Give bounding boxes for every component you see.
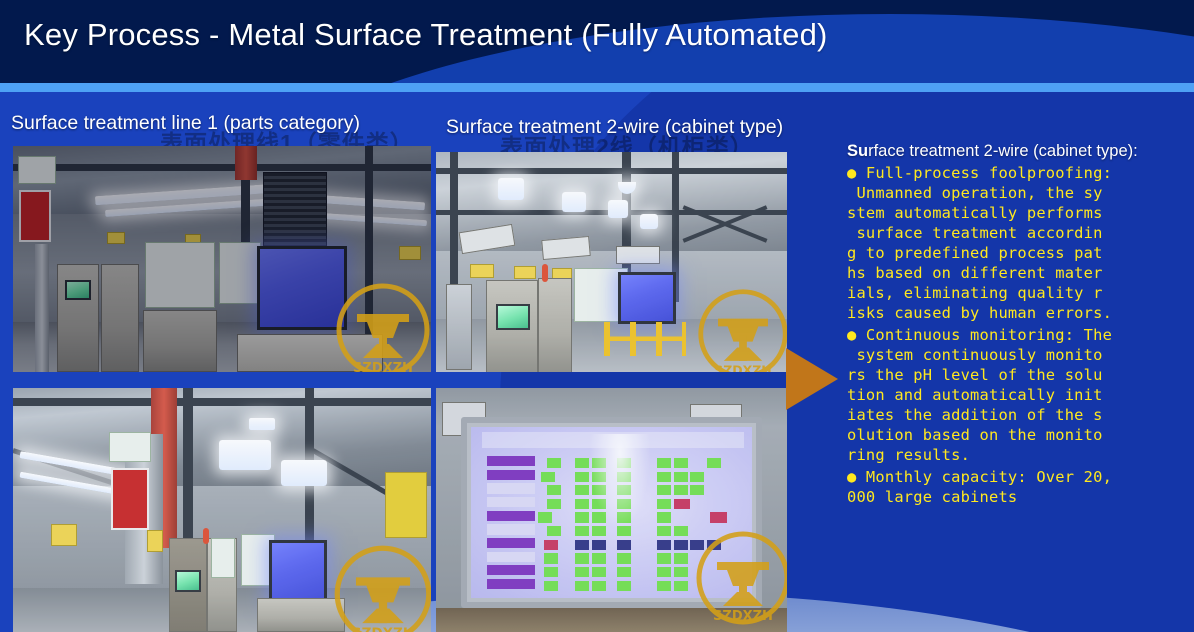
panel-bullet-1: ● Full-process foolproofing: Unmanned op… — [847, 163, 1191, 323]
photo-surface-treatment-2-wire: SZDXZH — [436, 152, 787, 372]
panel-bullet-3: ● Monthly capacity: Over 20, 000 large c… — [847, 467, 1191, 507]
panel-title: Surface treatment 2-wire (cabinet type): — [847, 141, 1191, 161]
svg-text:SZDXZH: SZDXZH — [714, 362, 771, 372]
slide-root: Key Process - Metal Surface Treatment (F… — [0, 0, 1194, 632]
description-panel: Surface treatment 2-wire (cabinet type):… — [847, 141, 1191, 507]
svg-text:SZDXZH: SZDXZH — [713, 609, 773, 624]
panel-title-rest: rface treatment 2-wire (cabinet type): — [868, 142, 1138, 160]
watermark-szdxzh-logo: SZDXZH — [695, 286, 787, 372]
photo-process-control-board: SZDXZH — [436, 388, 787, 632]
section-1-label: Surface treatment line 1 (parts category… — [11, 112, 360, 135]
watermark-szdxzh-logo: SZDXZH — [331, 542, 431, 632]
svg-text:SZDXZH: SZDXZH — [352, 626, 414, 632]
watermark-szdxzh-logo: SZDXZH — [693, 528, 787, 628]
photo-surface-treatment-line-1: SZDXZH — [13, 146, 431, 372]
svg-text:SZDXZH: SZDXZH — [353, 361, 413, 372]
header-divider — [0, 83, 1194, 92]
watermark-szdxzh-logo: SZDXZH — [333, 280, 431, 372]
slide-header: Key Process - Metal Surface Treatment (F… — [0, 0, 1194, 83]
panel-title-bold: Su — [847, 142, 868, 160]
section-2-label: Surface treatment 2-wire (cabinet type) — [446, 116, 783, 139]
flow-arrow-icon — [786, 348, 838, 410]
panel-bullet-2: ● Continuous monitoring: The system cont… — [847, 325, 1191, 465]
photo-soak-line-station: SZDXZH — [13, 388, 431, 632]
page-title: Key Process - Metal Surface Treatment (F… — [24, 17, 828, 53]
